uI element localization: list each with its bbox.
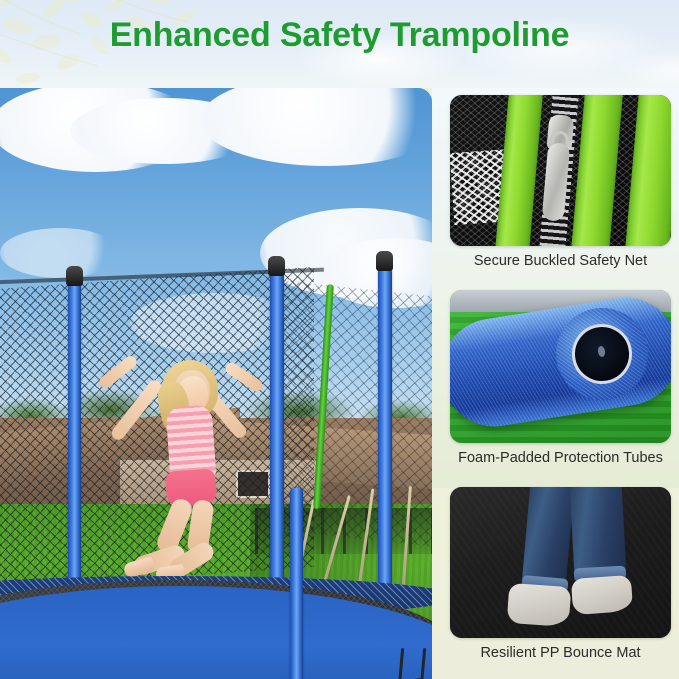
feature-caption: Secure Buckled Safety Net (450, 253, 671, 269)
trampoline-hero-photo (0, 88, 432, 679)
child-forearm-left (97, 354, 139, 391)
trampoline-ladder (392, 648, 432, 679)
jeans-leg-left (522, 487, 575, 589)
child-forearm-right (223, 360, 265, 393)
foam-tube-photo (450, 290, 671, 443)
jeans-leg-right (570, 487, 627, 576)
bounce-mat-photo (450, 487, 671, 638)
pole-cap (66, 266, 83, 286)
feature-caption: Resilient PP Bounce Mat (450, 645, 671, 661)
safety-net-zipper-photo (450, 95, 671, 246)
feature-card-foam-tubes[interactable]: Foam-Padded Protection Tubes (450, 290, 671, 466)
pole-cap (268, 256, 285, 276)
feature-card-bounce-mat[interactable]: Resilient PP Bounce Mat (450, 487, 671, 661)
enclosure-pole (378, 268, 392, 598)
pole-cap (376, 251, 393, 271)
feature-card-safety-net[interactable]: Secure Buckled Safety Net (450, 95, 671, 269)
feature-caption: Foam-Padded Protection Tubes (450, 450, 671, 466)
child-arm-left (109, 378, 164, 443)
white-sock-left (507, 583, 572, 627)
page-title: Enhanced Safety Trampoline (0, 16, 679, 55)
enclosure-pole (290, 488, 303, 679)
cloud-shape (0, 228, 120, 278)
page-header: Enhanced Safety Trampoline (0, 0, 679, 88)
